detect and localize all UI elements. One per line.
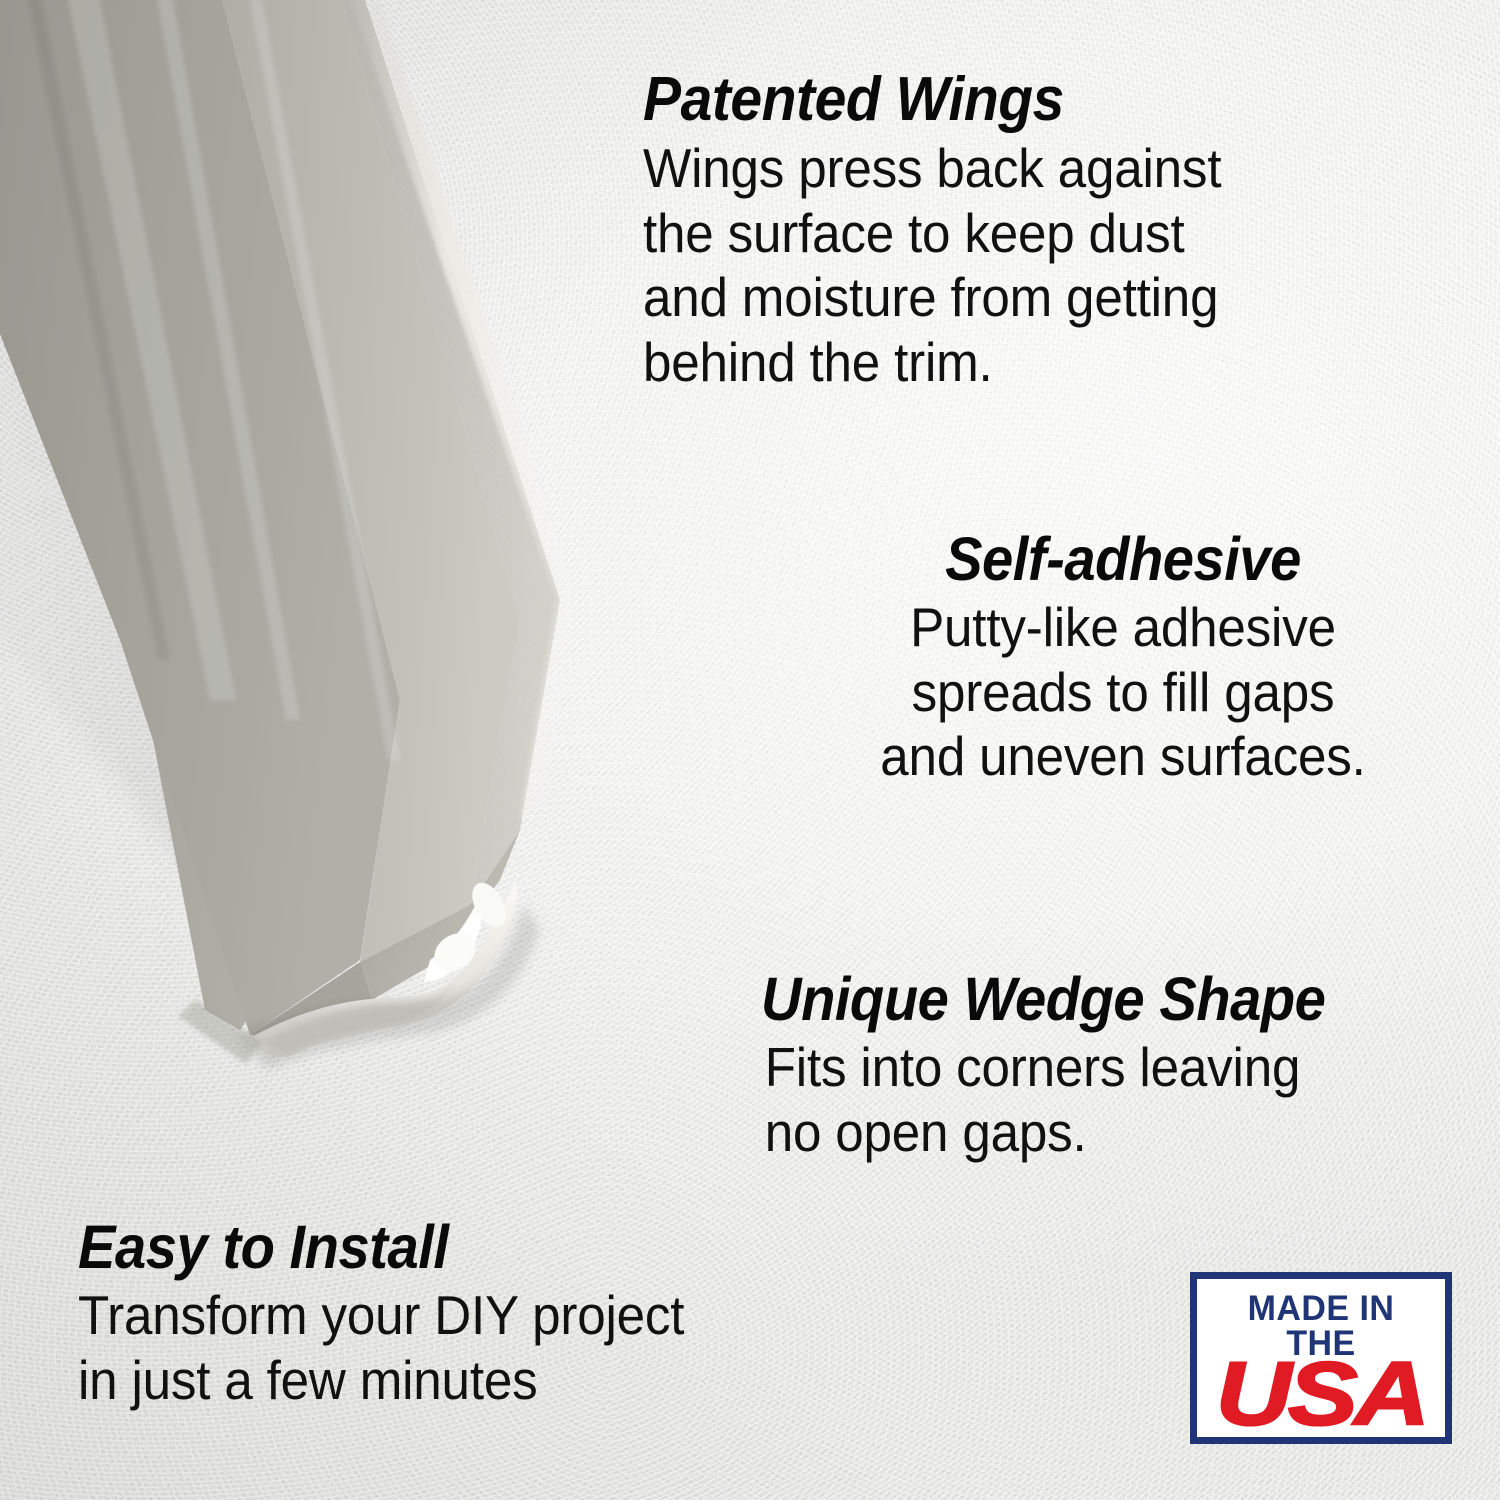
feature-body: Transform your DIY project in just a few… xyxy=(78,1283,748,1412)
infographic-canvas: Patented Wings Wings press back against … xyxy=(0,0,1500,1500)
feature-body: Fits into corners leaving no open gaps. xyxy=(761,1035,1431,1164)
feature-heading: Self-adhesive xyxy=(842,528,1403,591)
feature-body: Wings press back against the surface to … xyxy=(643,136,1313,393)
feature-heading: Easy to Install xyxy=(78,1216,740,1279)
feature-unique-wedge-shape: Unique Wedge Shape Fits into corners lea… xyxy=(761,968,1481,1164)
feature-heading: Patented Wings xyxy=(643,68,1305,132)
feature-easy-to-install: Easy to Install Transform your DIY proje… xyxy=(78,1216,798,1412)
badge-usa-text: USA xyxy=(1183,1355,1459,1434)
made-in-usa-badge: MADE IN THE USA xyxy=(1190,1272,1452,1444)
feature-patented-wings: Patented Wings Wings press back against … xyxy=(643,68,1363,394)
feature-heading: Unique Wedge Shape xyxy=(761,968,1423,1031)
feature-self-adhesive: Self-adhesive Putty-like adhesive spread… xyxy=(818,528,1428,788)
feature-body: Putty-like adhesive spreads to fill gaps… xyxy=(839,595,1406,788)
